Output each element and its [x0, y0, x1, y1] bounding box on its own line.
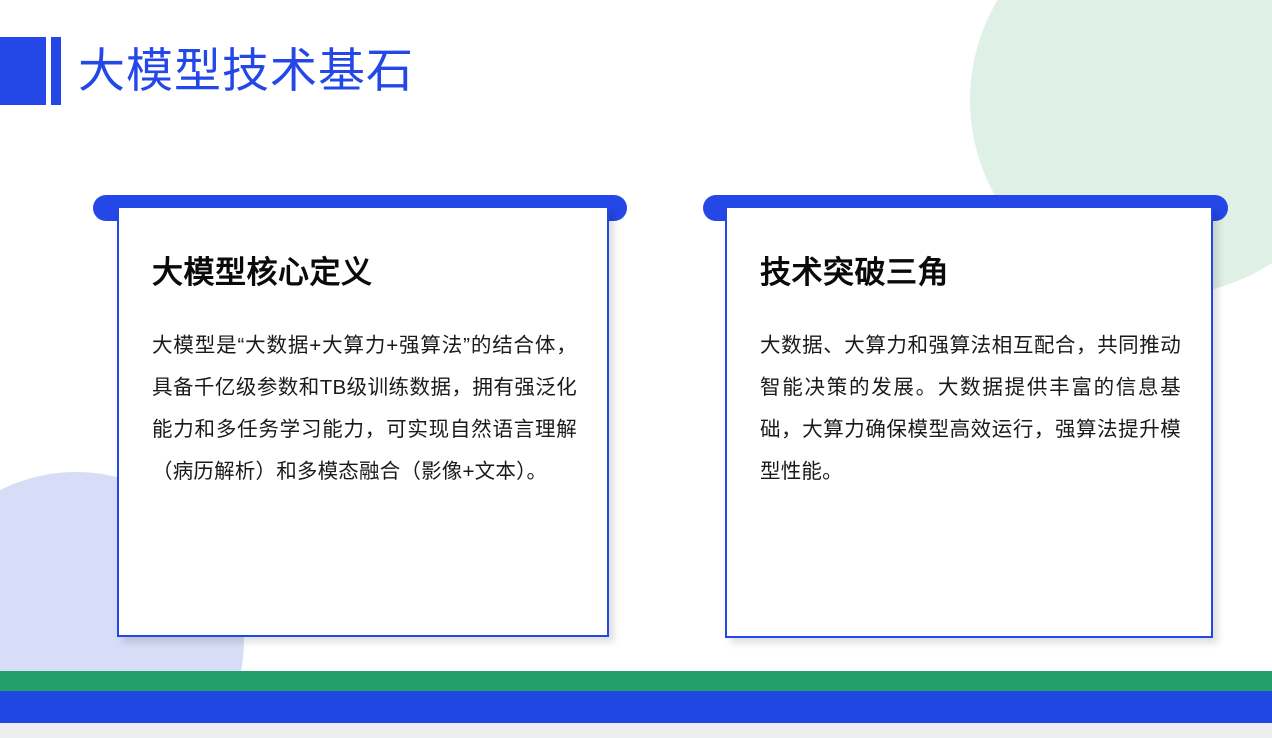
card-1-heading: 大模型核心定义	[152, 254, 577, 291]
footer-strip-gray	[0, 723, 1272, 738]
title-accent-bar-icon	[51, 37, 61, 105]
title-accent-block-icon	[0, 37, 46, 105]
card-2-inner: 技术突破三角 大数据、大算力和强算法相互配合，共同推动智能决策的发展。大数据提供…	[727, 208, 1211, 493]
card-1-paragraph: 大模型是“大数据+大算力+强算法”的结合体，具备千亿级参数和TB级训练数据，拥有…	[152, 325, 577, 493]
card-2-body: 技术突破三角 大数据、大算力和强算法相互配合，共同推动智能决策的发展。大数据提供…	[725, 206, 1213, 638]
card-1-body: 大模型核心定义 大模型是“大数据+大算力+强算法”的结合体，具备千亿级参数和TB…	[117, 206, 609, 637]
slide-canvas: 大模型技术基石 大模型核心定义 大模型是“大数据+大算力+强算法”的结合体，具备…	[0, 0, 1272, 738]
page-title: 大模型技术基石	[78, 37, 414, 105]
card-2-heading: 技术突破三角	[760, 254, 1181, 291]
footer-bar-blue	[0, 691, 1272, 723]
card-2-paragraph: 大数据、大算力和强算法相互配合，共同推动智能决策的发展。大数据提供丰富的信息基础…	[760, 325, 1181, 493]
footer-bar-green	[0, 671, 1272, 691]
card-1-inner: 大模型核心定义 大模型是“大数据+大算力+强算法”的结合体，具备千亿级参数和TB…	[119, 208, 607, 493]
slide-title-row: 大模型技术基石	[0, 37, 414, 105]
